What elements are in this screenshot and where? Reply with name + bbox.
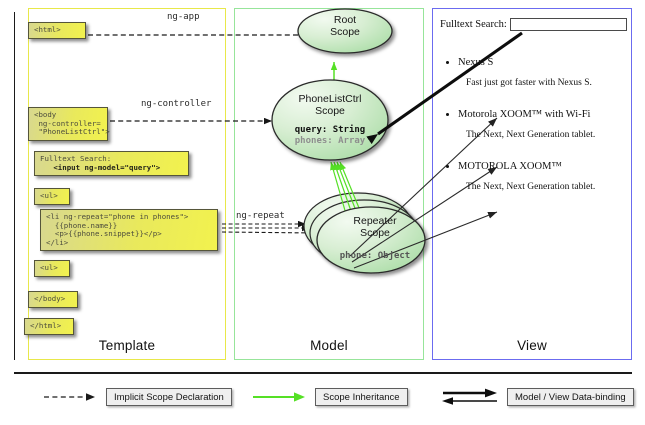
bullet-icon (446, 113, 449, 116)
legend-label: Scope Inheritance (315, 388, 408, 406)
label-ng-repeat: ng-repeat (236, 211, 285, 221)
list-item: MOTOROLA XOOM™ The Next, Next Generation… (440, 161, 626, 193)
code-box-ul-close: <ul> (34, 260, 70, 277)
dashed-arrow-icon (42, 391, 98, 403)
double-arrow-icon (439, 388, 499, 406)
code-line-bold: <input ng-model="query"> (40, 163, 160, 172)
left-frame-rule (14, 12, 15, 360)
phone-snippet: The Next, Next Generation tablet. (466, 181, 626, 193)
phone-list: Nexus S Fast just got faster with Nexus … (440, 57, 626, 193)
legend-scope-inheritance: Scope Inheritance (251, 386, 408, 408)
bullet-icon (446, 61, 449, 64)
legend-implicit-scope-declaration: Implicit Scope Declaration (42, 386, 232, 408)
angularjs-scope-diagram: <html> <body ng-controller= "PhoneListCt… (0, 0, 645, 425)
fulltext-search-label: Fulltext Search: (440, 19, 507, 30)
phone-snippet: The Next, Next Generation tablet. (466, 129, 626, 141)
bullet-icon (446, 165, 449, 168)
view-content: Fulltext Search: Nexus S Fast just got f… (440, 18, 626, 193)
code-box-html-close: </html> (24, 318, 74, 335)
fulltext-search-input[interactable] (510, 18, 627, 31)
code-box-li-ng-repeat: <li ng-repeat="phone in phones"> {{phone… (40, 209, 218, 251)
legend-label: Model / View Data-binding (507, 388, 634, 406)
list-item: Nexus S Fast just got faster with Nexus … (440, 57, 626, 89)
legend-model-view-data-binding: Model / View Data-binding (439, 386, 634, 408)
panel-title-template: Template (28, 338, 226, 353)
code-box-html-open: <html> (28, 22, 86, 39)
list-item: Motorola XOOM™ with Wi-Fi The Next, Next… (440, 109, 626, 141)
phone-snippet: Fast just got faster with Nexus S. (466, 77, 626, 89)
phone-name: Nexus S (458, 57, 626, 69)
label-ng-app: ng-app (167, 12, 200, 22)
code-box-ul-open: <ul> (34, 188, 70, 205)
phone-name: MOTOROLA XOOM™ (458, 161, 626, 173)
code-box-body-open: <body ng-controller= "PhoneListCtrl"> (28, 107, 108, 141)
code-box-fulltext-search: Fulltext Search: <input ng-model="query"… (34, 151, 189, 176)
green-arrow-icon (251, 391, 307, 403)
panel-title-view: View (432, 338, 632, 353)
legend-divider (14, 372, 632, 374)
panel-model (234, 8, 424, 360)
code-box-body-close: </body> (28, 291, 78, 308)
legend-label: Implicit Scope Declaration (106, 388, 232, 406)
legend: Implicit Scope Declaration Scope Inherit… (14, 386, 632, 408)
fulltext-search-row: Fulltext Search: (440, 18, 626, 31)
label-ng-controller: ng-controller (141, 99, 211, 109)
phone-name: Motorola XOOM™ with Wi-Fi (458, 109, 626, 121)
panel-title-model: Model (234, 338, 424, 353)
